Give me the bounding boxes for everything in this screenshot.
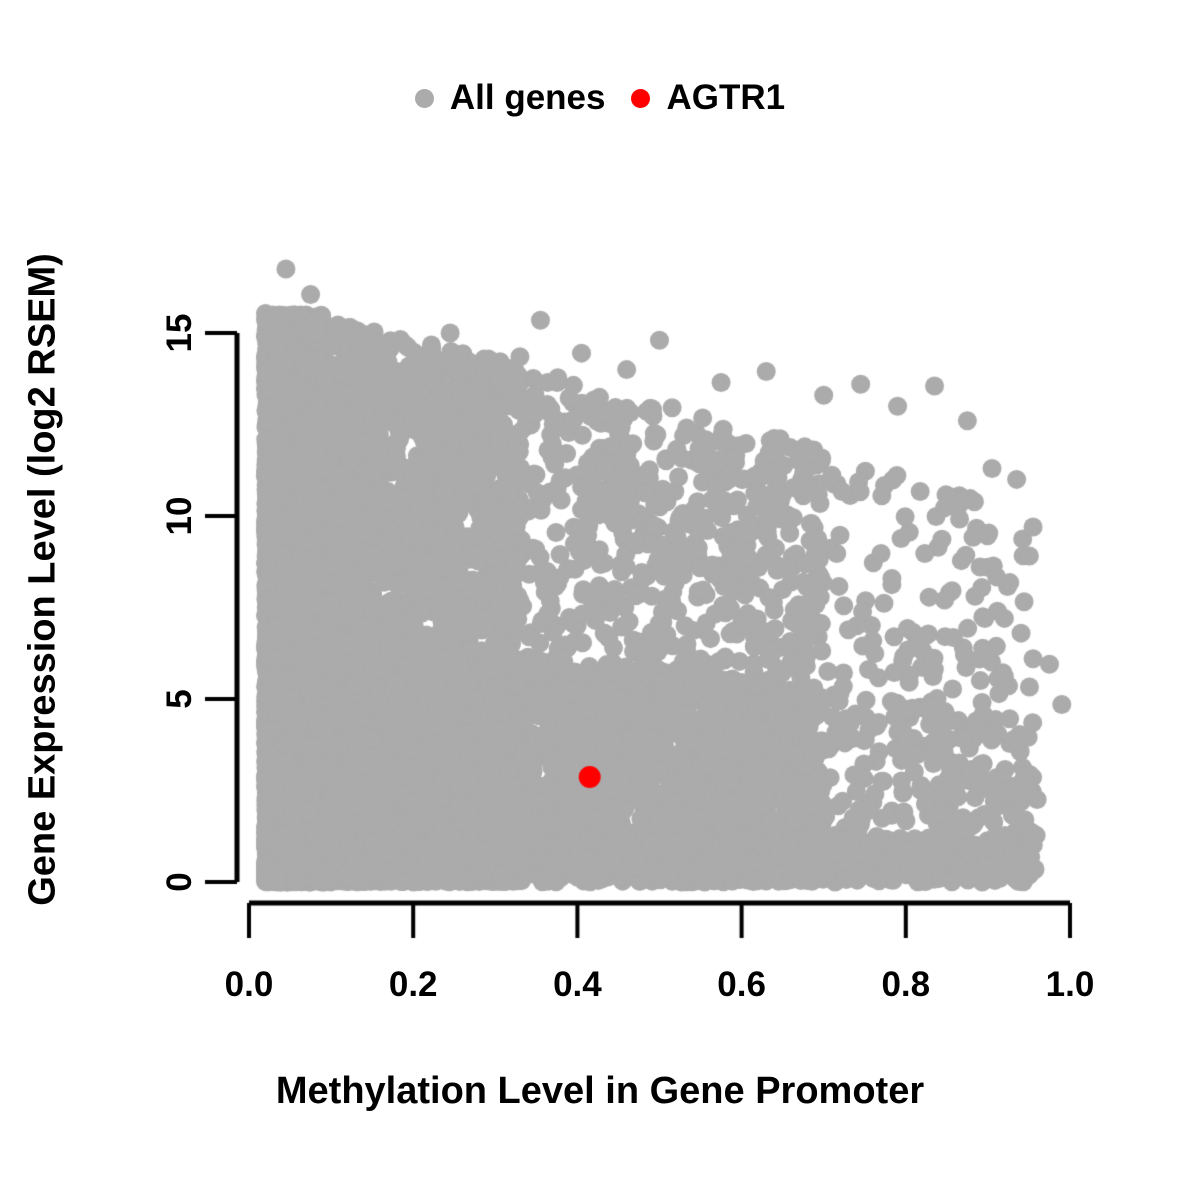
x-tick-label: 1.0 [1046,965,1095,1005]
y-tick-label: 15 [160,303,200,363]
x-axis-title: Methylation Level in Gene Promoter [0,1070,1200,1113]
x-tick-label: 0.0 [225,965,274,1005]
y-tick-label: 10 [160,486,200,546]
scatter-plot-figure: All genes AGTR1 Methylation Level in Gen… [0,0,1200,1200]
x-tick-label: 0.2 [389,965,438,1005]
x-tick-label: 0.6 [717,965,766,1005]
scatter-plot-canvas [0,0,1200,1200]
x-tick-label: 0.8 [881,965,930,1005]
y-tick-label: 0 [160,852,200,912]
y-tick-label: 5 [160,669,200,729]
x-tick-label: 0.4 [553,965,602,1005]
